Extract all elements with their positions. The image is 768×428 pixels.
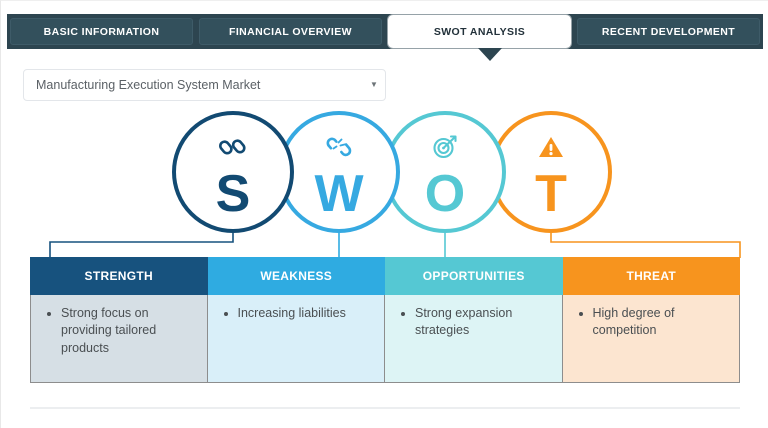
- list-item: Increasing liabilities: [238, 305, 377, 322]
- swot-header-opportunities: OPPORTUNITIES: [385, 257, 563, 295]
- connector-threat: [551, 233, 740, 258]
- swot-list-opportunities: Strong expansion strategies: [393, 305, 554, 340]
- swot-circle-threat: T: [490, 111, 612, 233]
- chevron-down-icon: ▼: [363, 81, 385, 89]
- tab-financial-overview[interactable]: FINANCIAL OVERVIEW: [199, 18, 382, 45]
- list-item: High degree of competition: [593, 305, 732, 340]
- swot-table: STRENGTH Strong focus on providing tailo…: [30, 257, 740, 383]
- swot-body-strength: Strong focus on providing tailored produ…: [30, 295, 208, 383]
- target-arrow-icon: [430, 132, 460, 162]
- market-select-value: Manufacturing Execution System Market: [24, 78, 363, 92]
- section-divider: [30, 407, 740, 409]
- swot-column-threat: THREAT High degree of competition: [563, 257, 741, 383]
- swot-list-strength: Strong focus on providing tailored produ…: [39, 305, 199, 357]
- swot-circle-letter: O: [425, 168, 465, 220]
- swot-list-threat: High degree of competition: [571, 305, 732, 340]
- tab-basic-information[interactable]: BASIC INFORMATION: [10, 18, 193, 45]
- swot-circles: S W: [1, 111, 768, 236]
- tab-swot-analysis[interactable]: SWOT ANALYSIS: [388, 15, 571, 48]
- swot-connectors: [1, 231, 768, 259]
- connector-strength: [50, 233, 233, 258]
- swot-circle-letter: S: [216, 168, 251, 220]
- swot-body-opportunities: Strong expansion strategies: [385, 295, 563, 383]
- list-item: Strong focus on providing tailored produ…: [61, 305, 199, 357]
- swot-list-weakness: Increasing liabilities: [216, 305, 377, 322]
- swot-body-weakness: Increasing liabilities: [208, 295, 386, 383]
- swot-analysis-page: BASIC INFORMATION FINANCIAL OVERVIEW SWO…: [0, 0, 768, 428]
- swot-circle-strength: S: [172, 111, 294, 233]
- list-item: Strong expansion strategies: [415, 305, 554, 340]
- active-tab-caret-icon: [478, 48, 502, 61]
- swot-body-threat: High degree of competition: [563, 295, 741, 383]
- tab-recent-development[interactable]: RECENT DEVELOPMENT: [577, 18, 760, 45]
- tab-bar: BASIC INFORMATION FINANCIAL OVERVIEW SWO…: [7, 14, 763, 49]
- swot-circle-letter: T: [535, 168, 567, 220]
- swot-column-opportunities: OPPORTUNITIES Strong expansion strategie…: [385, 257, 563, 383]
- broken-chain-icon: [323, 132, 355, 162]
- swot-header-strength: STRENGTH: [30, 257, 208, 295]
- swot-header-weakness: WEAKNESS: [208, 257, 386, 295]
- swot-circle-opportunities: O: [384, 111, 506, 233]
- chain-link-icon: [218, 132, 248, 162]
- market-select[interactable]: Manufacturing Execution System Market ▼: [23, 69, 386, 101]
- warning-triangle-icon: [536, 132, 566, 162]
- swot-circle-letter: W: [314, 168, 363, 220]
- swot-column-strength: STRENGTH Strong focus on providing tailo…: [30, 257, 208, 383]
- swot-header-threat: THREAT: [563, 257, 741, 295]
- swot-circle-weakness: W: [278, 111, 400, 233]
- swot-column-weakness: WEAKNESS Increasing liabilities: [208, 257, 386, 383]
